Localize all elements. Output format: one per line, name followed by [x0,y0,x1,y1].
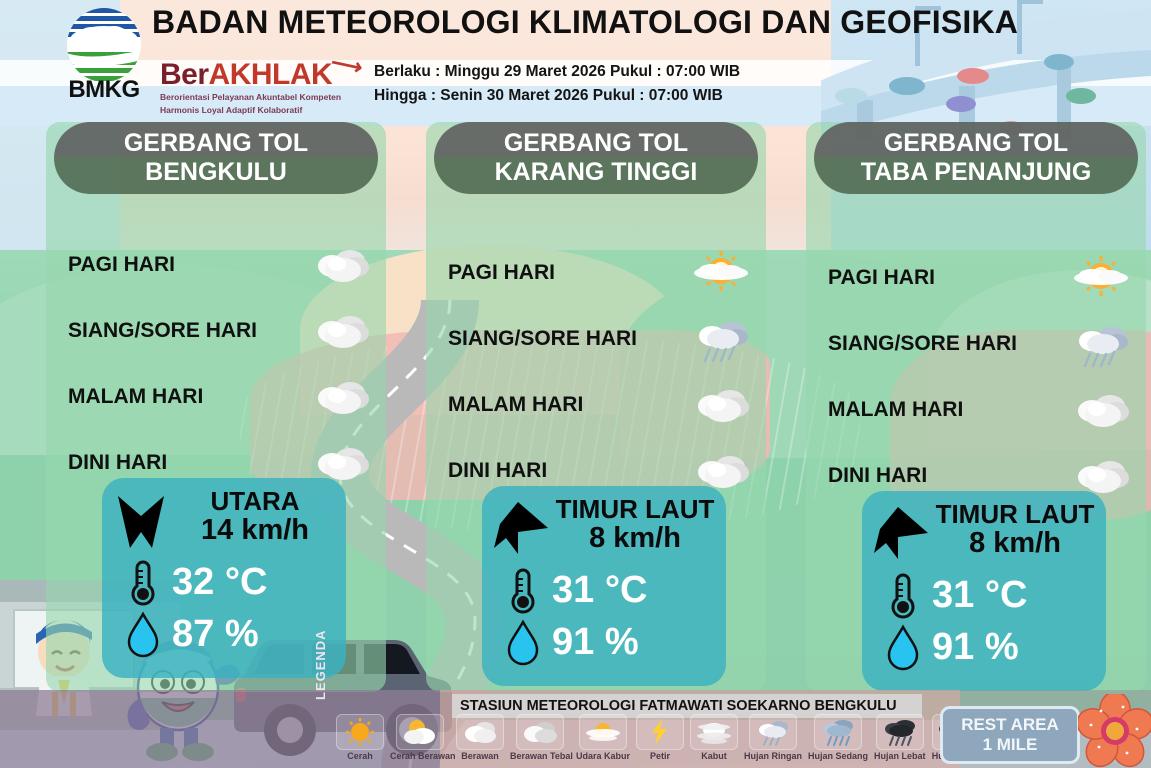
wind-text: TIMUR LAUT 8 km/h [554,496,716,555]
wind-row: TIMUR LAUT 8 km/h [872,499,1096,567]
cerah-berawan-icon [690,247,752,299]
berakhlak-caret-icon: ⟶ [329,51,364,79]
wind-row: TIMUR LAUT 8 km/h [492,494,716,562]
validity-block: Berlaku : Minggu 29 Maret 2026 Pukul : 0… [374,60,740,108]
period-row: SIANG/SORE HARI [448,306,748,372]
gate-column-karang-tinggi: GERBANG TOL KARANG TINGGI PAGI HARI [426,122,766,692]
temperature-row: 31 °C [492,566,716,614]
hujan-ringan-icon [749,714,797,750]
period-label: PAGI HARI [448,261,555,285]
legend-item: Cerah Berawan [390,714,450,761]
legend-label: Kabut [690,751,738,761]
berawan-icon [690,379,752,431]
validity-from: Berlaku : Minggu 29 Maret 2026 Pukul : 0… [374,60,740,84]
period-list: PAGI HARI [828,245,1128,509]
berawan-icon [1070,384,1132,436]
temperature-value: 31 °C [932,576,1027,614]
petir-icon [636,714,684,750]
wind-speed: 14 km/h [174,515,336,547]
wind-direction: UTARA [174,488,336,515]
conditions-card-bengkulu: UTARA 14 km/h 32 °C 87 % [102,478,346,678]
column-title-line2: TABA PENANJUNG [861,158,1092,188]
berawan-icon [310,371,372,423]
period-label: SIANG/SORE HARI [68,319,257,343]
period-row: MALAM HARI [68,364,368,430]
wind-direction: TIMUR LAUT [554,496,716,523]
berawan-icon [310,305,372,357]
conditions-card-karang-tinggi: TIMUR LAUT 8 km/h 31 °C 91 % [482,486,726,686]
period-label: DINI HARI [68,451,167,475]
rest-area-line2: 1 MILE [983,735,1038,755]
berakhlak-logo: BerAKHLAK ⟶ Berorientasi Pelayanan Akunt… [160,60,360,115]
bmkg-logo-word: BMKG [58,76,150,104]
period-row: MALAM HARI [448,372,748,438]
temperature-value: 31 °C [552,571,647,609]
cerah-berawan-icon [396,714,444,750]
page-title: BADAN METEOROLOGI KLIMATOLOGI DAN GEOFIS… [152,4,1082,41]
gate-column-taba-penanjung: GERBANG TOL TABA PENANJUNG PAGI HARI [806,122,1146,692]
period-row: MALAM HARI [828,377,1128,443]
legend-item: Hujan Ringan [744,714,802,761]
humidity-row: 91 % [872,623,1096,671]
legend-item: Kabut [690,714,738,761]
hujan-sedang-icon [814,714,862,750]
period-label: SIANG/SORE HARI [828,332,1017,356]
period-label: PAGI HARI [828,266,935,290]
wind-text: UTARA 14 km/h [174,488,336,547]
humidity-value: 91 % [552,623,639,661]
legend-label: Berawan Tebal [510,751,570,761]
legend-label: Hujan Lebat [874,751,926,761]
berawan-tebal-icon [516,714,564,750]
legend-label: Hujan Ringan [744,751,802,761]
legend-label: Hujan Sedang [808,751,868,761]
legend-item: Berawan Tebal [510,714,570,761]
berakhlak-tagline-2: Harmonis Loyal Adaptif Kolaboratif [160,105,360,116]
humidity-value: 91 % [932,628,1019,666]
cerah-icon [336,714,384,750]
humidity-value: 87 % [172,615,259,653]
wind-row: UTARA 14 km/h [112,486,336,554]
period-list: PAGI HARI SIANG/SORE HARI MALAM HARI DIN… [68,232,368,496]
legend-label: Petir [636,751,684,761]
legend-list: Cerah Cerah Berawan Berawan Berawan Teba… [336,714,936,768]
rest-area-sign: REST AREA 1 MILE [940,706,1080,764]
period-row: SIANG/SORE HARI [828,311,1128,377]
column-header-karang-tinggi: GERBANG TOL KARANG TINGGI [434,122,758,194]
wind-text: TIMUR LAUT 8 km/h [934,501,1096,560]
legend-label: Udara Kabur [576,751,630,761]
thermometer-icon [886,571,920,619]
hujan-ringan-icon [690,313,752,365]
legend-label: Cerah [336,751,384,761]
column-header-taba-penanjung: GERBANG TOL TABA PENANJUNG [814,122,1138,194]
berakhlak-tagline-1: Berorientasi Pelayanan Akuntabel Kompete… [160,92,360,103]
validity-to: Hingga : Senin 30 Maret 2026 Pukul : 07:… [374,84,740,108]
period-label: PAGI HARI [68,253,175,277]
infographic-root: BMKG BADAN METEOROLOGI KLIMATOLOGI DAN G… [0,0,1151,768]
period-row: PAGI HARI [828,245,1128,311]
berakhlak-prefix: Ber [160,58,209,91]
wind-speed: 8 km/h [554,523,716,555]
column-header-bengkulu: GERBANG TOL BENGKULU [54,122,378,194]
berakhlak-main: AKHLAK [209,58,333,91]
legend-item: Berawan [456,714,504,761]
hujan-ringan-icon [1070,318,1132,370]
bmkg-logo-icon [58,6,150,84]
water-drop-icon [126,610,160,658]
temperature-row: 31 °C [872,571,1096,619]
legend-item: Hujan Lebat [874,714,926,761]
temperature-value: 32 °C [172,563,267,601]
period-label: MALAM HARI [448,393,583,417]
legenda-label: LEGENDA [313,629,328,700]
legend-item: Udara Kabur [576,714,630,761]
column-title-line1: GERBANG TOL [504,129,688,159]
thermometer-icon [506,566,540,614]
column-title-line1: GERBANG TOL [124,129,308,159]
wind-direction: TIMUR LAUT [934,501,1096,528]
humidity-row: 91 % [492,618,716,666]
temperature-row: 32 °C [112,558,336,606]
column-title-line2: KARANG TINGGI [495,158,698,188]
hujan-lebat-icon [876,714,924,750]
arrow-southwest-icon [492,498,550,562]
wind-speed: 8 km/h [934,528,1096,560]
period-list: PAGI HARI [448,240,748,504]
period-label: DINI HARI [828,464,927,488]
period-label: MALAM HARI [68,385,203,409]
period-label: MALAM HARI [828,398,963,422]
legend-label: Cerah Berawan [390,751,450,761]
humidity-row: 87 % [112,610,336,658]
column-title-line1: GERBANG TOL [884,129,1068,159]
station-name: STASIUN METEOROLOGI FATMAWATI SOEKARNO B… [460,698,897,714]
berakhlak-wordmark: BerAKHLAK ⟶ [160,60,360,90]
thermometer-icon [126,558,160,606]
water-drop-icon [506,618,540,666]
period-label: DINI HARI [448,459,547,483]
berawan-icon [456,714,504,750]
kabut-icon [690,714,738,750]
rafflesia-flower-icon [1078,694,1151,768]
berawan-icon [310,239,372,291]
arrow-down-icon [112,490,170,554]
rest-area-line1: REST AREA [961,715,1059,735]
period-row: SIANG/SORE HARI [68,298,368,364]
legend-item: Cerah [336,714,384,761]
period-row: PAGI HARI [448,240,748,306]
legend-label: Berawan [456,751,504,761]
column-title-line2: BENGKULU [145,158,287,188]
gate-column-bengkulu: GERBANG TOL BENGKULU PAGI HARI SIANG/SOR… [46,122,386,692]
legend-item: Petir [636,714,684,761]
udara-kabur-icon [579,714,627,750]
conditions-card-taba-penanjung: TIMUR LAUT 8 km/h 31 °C 91 % [862,491,1106,691]
legend-item: Hujan Sedang [808,714,868,761]
arrow-southwest-icon [872,503,930,567]
cerah-berawan-icon [1070,252,1132,304]
period-label: SIANG/SORE HARI [448,327,637,351]
period-row: PAGI HARI [68,232,368,298]
water-drop-icon [886,623,920,671]
